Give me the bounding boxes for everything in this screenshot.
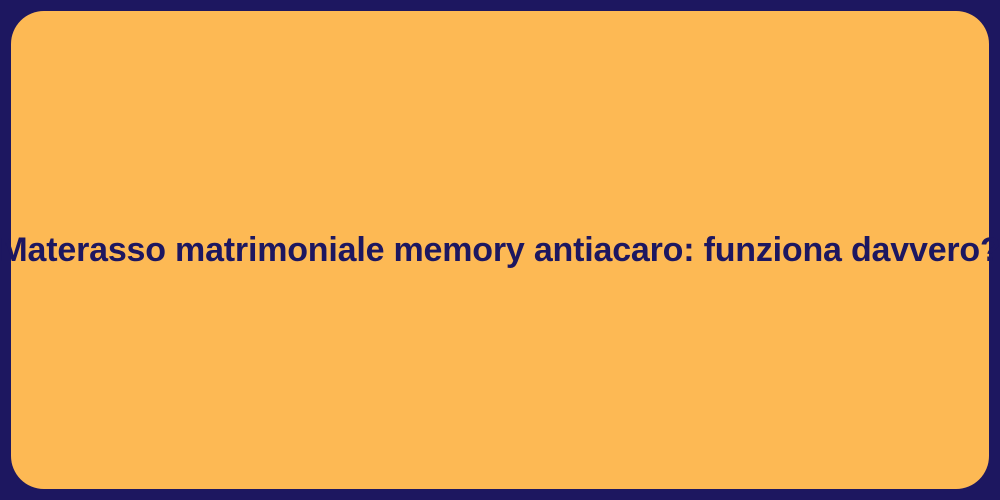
page-title: Materasso matrimoniale memory antiacaro:… xyxy=(0,229,1000,272)
content-card: Materasso matrimoniale memory antiacaro:… xyxy=(11,11,989,489)
page-background: Materasso matrimoniale memory antiacaro:… xyxy=(0,0,1000,500)
